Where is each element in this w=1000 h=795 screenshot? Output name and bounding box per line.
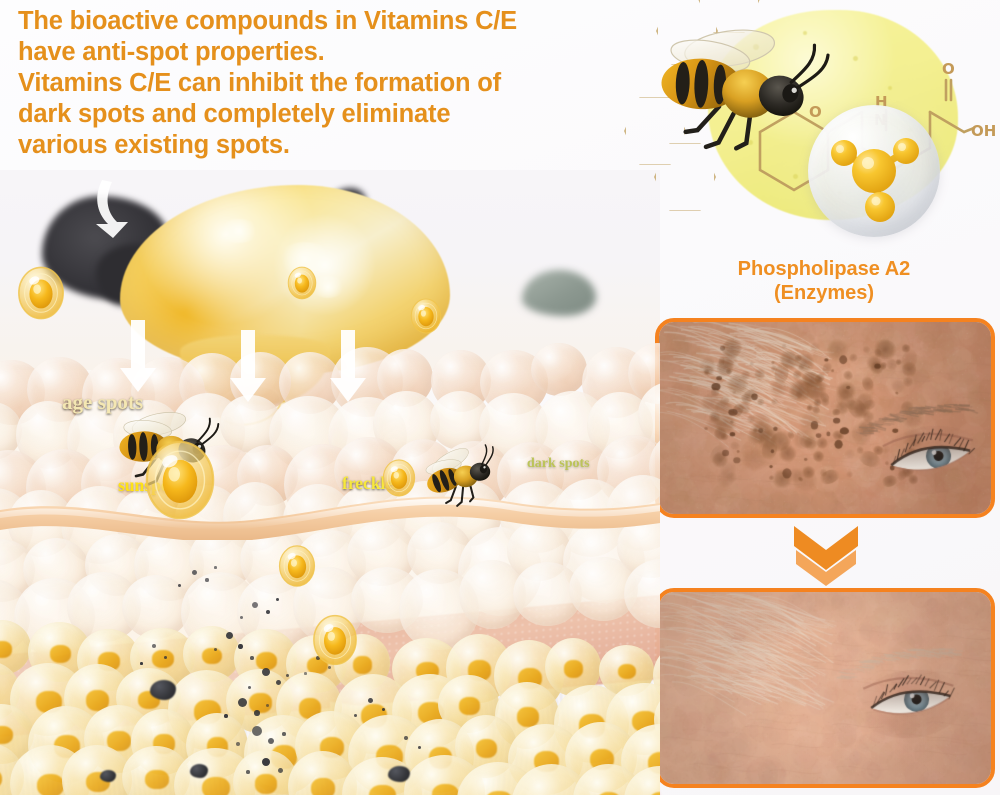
melanin-particle-icon — [150, 680, 176, 700]
melanin-particle-icon — [100, 770, 116, 782]
melanin-particle-icon — [252, 602, 258, 608]
headline-line-1: The bioactive compounds in Vitamins C/E — [18, 6, 658, 37]
double-chevron-down-icon — [786, 524, 866, 586]
after-photo-image — [659, 592, 991, 784]
bee-icon — [404, 442, 516, 514]
serum-droplet-icon — [382, 458, 416, 498]
serum-droplet-icon — [278, 544, 316, 588]
bee-enzyme-graphic: O O H N OH — [648, 0, 1000, 250]
melanin-particle-icon — [328, 666, 331, 669]
before-photo-image — [659, 322, 991, 514]
melanin-particle-icon — [276, 598, 279, 601]
melanin-particle-icon — [262, 668, 270, 676]
enzyme-caption-line1: Phospholipase A2 — [648, 258, 1000, 282]
melanin-particle-icon — [140, 662, 143, 665]
melanin-particle-icon — [164, 656, 167, 659]
melanin-particle-icon — [522, 270, 596, 316]
before-skin-canvas — [659, 322, 991, 514]
page-headline: The bioactive compounds in Vitamins C/E … — [18, 6, 658, 162]
melanin-particle-icon — [254, 710, 260, 716]
melanin-particle-icon — [205, 578, 209, 582]
infographic-poster: age spots sunspot freckles dark spots — [0, 0, 1000, 795]
penetration-arrow-icon — [120, 320, 156, 394]
after-skin-canvas — [659, 592, 991, 784]
melanin-particle-icon — [224, 714, 228, 718]
penetration-arrow-icon — [230, 330, 266, 404]
melanin-particle-icon — [354, 714, 357, 717]
atom-label-OH: OH — [971, 122, 996, 140]
headline-line-3: Vitamins C/E can inhibit the formation o… — [18, 68, 658, 99]
melanin-particle-icon — [214, 566, 217, 569]
bee-icon — [642, 2, 828, 182]
melanin-particle-icon — [282, 732, 286, 736]
enzyme-caption-line2: (Enzymes) — [648, 282, 1000, 306]
melanin-particle-icon — [368, 698, 373, 703]
melanin-particle-icon — [262, 758, 270, 766]
melanin-particle-icon — [190, 764, 208, 778]
serum-droplet-icon — [287, 266, 317, 300]
melanin-particle-icon — [236, 742, 240, 746]
melanin-particle-icon — [152, 644, 156, 648]
melanin-particle-icon — [178, 584, 181, 587]
melanin-particle-icon — [268, 738, 274, 744]
serum-droplet-icon — [312, 614, 358, 666]
melanin-particle-icon — [404, 736, 408, 740]
melanin-particle-icon — [276, 680, 281, 685]
after-photo — [655, 588, 995, 788]
melanin-particle-icon — [226, 632, 233, 639]
melanin-particle-icon — [418, 746, 421, 749]
penetration-arrow-icon — [88, 178, 134, 240]
melanin-particle-icon — [266, 610, 270, 614]
skin-cell-bubble-icon — [531, 343, 588, 396]
melanin-particle-icon — [252, 726, 262, 736]
skin-cross-section-diagram: age spots sunspot freckles dark spots — [0, 170, 660, 795]
melanin-particle-icon — [238, 644, 243, 649]
serum-droplet-icon — [144, 438, 216, 522]
melanin-particle-icon — [388, 766, 410, 782]
headline-line-5: various existing spots. — [18, 130, 658, 161]
melanin-particle-icon — [238, 698, 247, 707]
label-dark-spots: dark spots — [527, 456, 590, 472]
enzyme-caption: Phospholipase A2 (Enzymes) — [648, 258, 1000, 305]
before-photo — [655, 318, 995, 518]
melanin-particle-icon — [304, 672, 307, 675]
atom-label-O: O — [942, 60, 955, 78]
serum-droplet-icon — [410, 298, 442, 334]
melanin-particle-icon — [192, 570, 197, 575]
headline-line-2: have anti-spot properties. — [18, 37, 658, 68]
serum-droplet-icon — [16, 266, 66, 320]
melanin-particle-icon — [246, 770, 250, 774]
melanin-particle-icon — [278, 768, 283, 773]
headline-line-4: dark spots and completely eliminate — [18, 99, 658, 130]
penetration-arrow-icon — [330, 330, 366, 404]
melanin-particle-icon — [250, 656, 254, 660]
skin-surface-layer — [0, 490, 660, 540]
